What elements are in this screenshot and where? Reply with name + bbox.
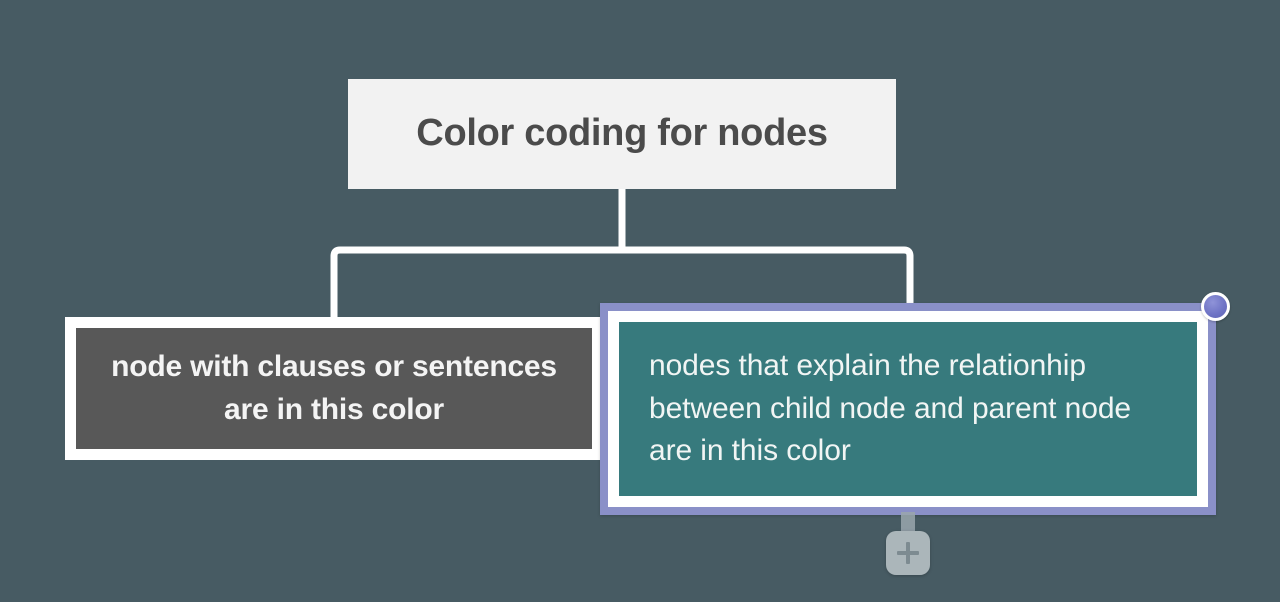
resize-handle-dot-icon[interactable] xyxy=(1201,292,1230,321)
node-root[interactable]: Color coding for nodes xyxy=(348,79,896,189)
node-clause-fill: node with clauses or sentences are in th… xyxy=(76,328,592,449)
node-relation-fill: nodes that explain the relationhip betwe… xyxy=(619,322,1197,496)
node-relation-label: nodes that explain the relationhip betwe… xyxy=(649,345,1167,474)
node-clause[interactable]: node with clauses or sentences are in th… xyxy=(65,317,603,460)
node-relation-frame: nodes that explain the relationhip betwe… xyxy=(608,311,1208,507)
mindmap-canvas[interactable]: Color coding for nodes node with clauses… xyxy=(0,0,1280,602)
add-child-button[interactable] xyxy=(886,531,930,575)
plus-icon-vertical xyxy=(906,542,910,564)
node-root-label: Color coding for nodes xyxy=(416,112,827,156)
node-relation[interactable]: nodes that explain the relationhip betwe… xyxy=(600,303,1216,515)
node-clause-label: node with clauses or sentences are in th… xyxy=(90,346,578,431)
